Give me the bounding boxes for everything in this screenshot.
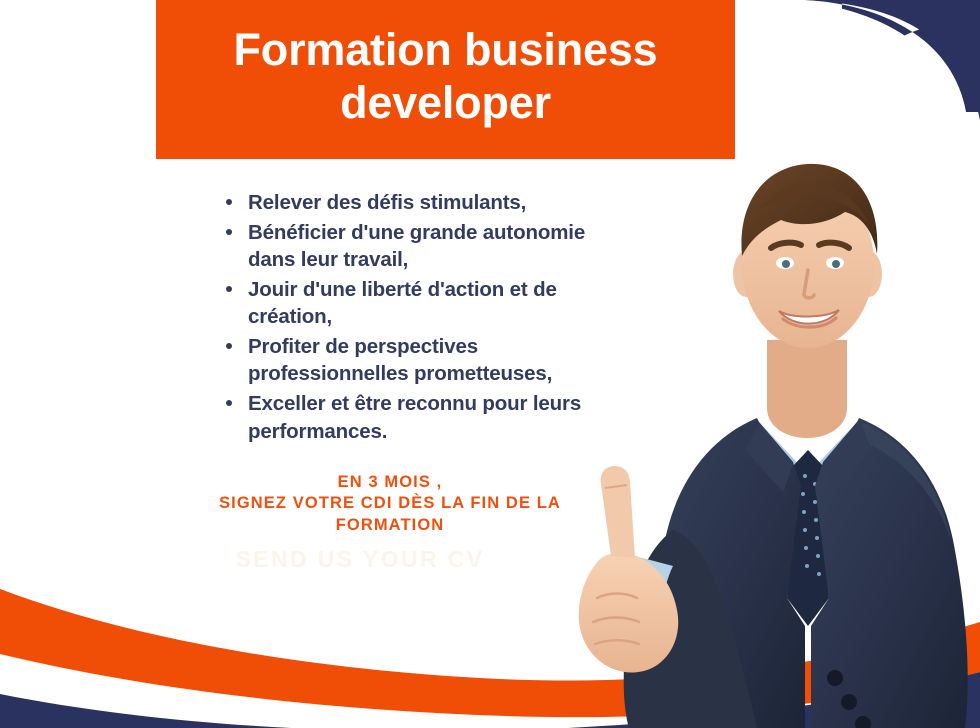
slide-canvas: Formation business developer Relever des…: [0, 0, 980, 728]
pupil-left-shape: [782, 260, 790, 268]
bullet-dot-icon: [226, 400, 232, 406]
list-item-label: Relever des défis stimulants,: [248, 191, 526, 214]
suit-button-icon: [827, 670, 843, 686]
orange-sliver-shape: [955, 0, 980, 18]
bullet-dot-icon: [226, 286, 232, 292]
bullet-dot-icon: [226, 199, 232, 205]
neck-shape: [767, 340, 847, 438]
suit-button-icon: [841, 694, 857, 710]
pupil-right-shape: [832, 260, 840, 268]
bullet-dot-icon: [226, 343, 232, 349]
businessman-photo: [505, 78, 980, 728]
bullet-dot-icon: [226, 229, 232, 235]
